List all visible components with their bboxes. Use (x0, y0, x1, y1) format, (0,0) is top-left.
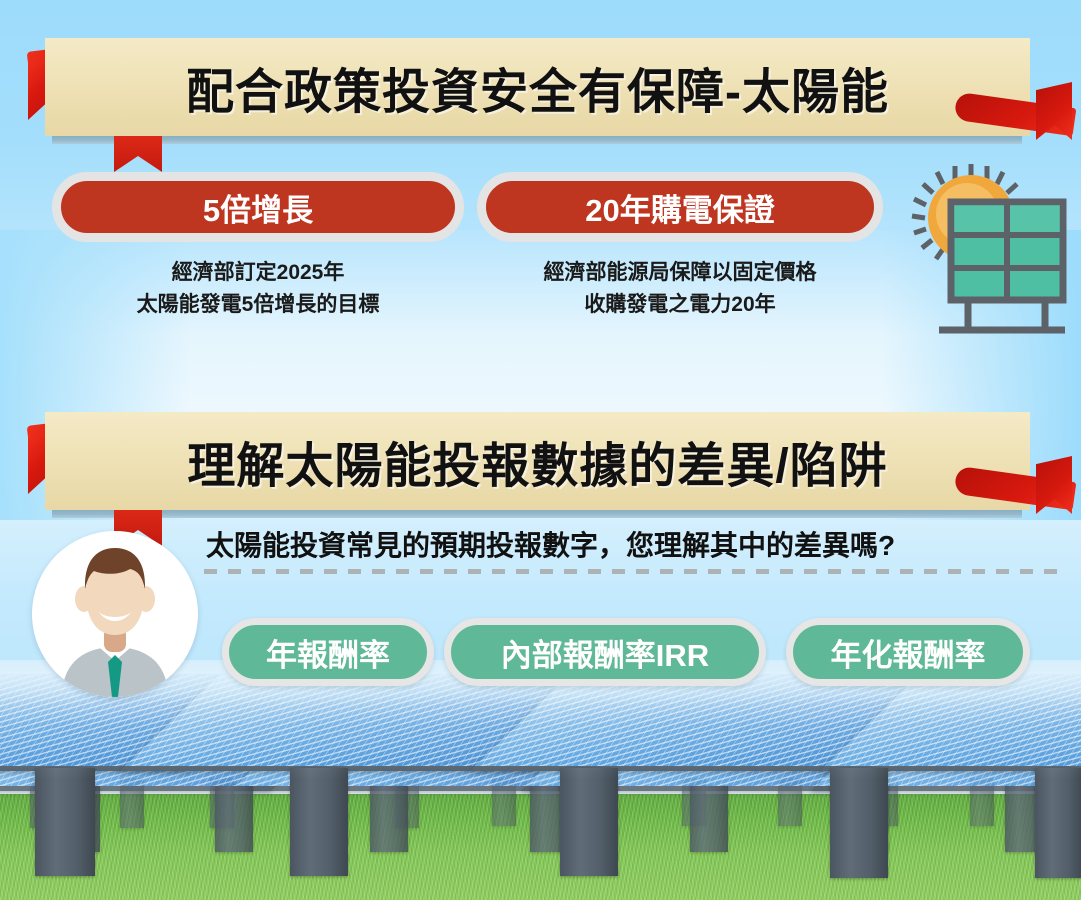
caption-5x-growth-line2: 太陽能發電5倍增長的目標 (52, 290, 464, 320)
term-pill-irr[interactable]: 內部報酬率IRR (444, 618, 766, 686)
highlight-pill-20y-ppa[interactable]: 20年購電保證 (477, 172, 883, 242)
banner-one-plate: 配合政策投資安全有保障-太陽能 (45, 38, 1030, 136)
panel-column (690, 786, 728, 852)
panel-column (35, 768, 95, 876)
caption-20y-ppa-line1: 經濟部能源局保障以固定價格 (477, 258, 883, 288)
solar-icon-svg (893, 158, 1068, 343)
highlight-pill-5x-growth[interactable]: 5倍增長 (52, 172, 464, 242)
subtitle-dashed-underline (204, 569, 1060, 574)
panel-column (830, 768, 888, 878)
caption-20y-ppa-line2: 收購發電之電力20年 (477, 290, 883, 320)
banner-two-title: 理解太陽能投報數據的差異/陷阱 (45, 412, 1030, 510)
term-pill-annual-return[interactable]: 年報酬率 (222, 618, 434, 686)
panel-column (560, 768, 618, 876)
avatar-svg (32, 531, 198, 697)
panel-grid (951, 202, 1063, 300)
banner-one: 配合政策投資安全有保障-太陽能 (0, 0, 1081, 160)
panel-column (290, 768, 348, 876)
panel-column (1035, 768, 1081, 878)
banner-two: 理解太陽能投報數據的差異/陷阱 (0, 378, 1081, 538)
panel-column (215, 786, 253, 852)
solar-panel-sun-icon (893, 158, 1068, 343)
caption-5x-growth-line1: 經濟部訂定2025年 (52, 258, 464, 288)
panel-stand (939, 300, 1065, 330)
solar-farm-photo (0, 660, 1081, 900)
section-two-subtitle: 太陽能投資常見的預期投報數字，您理解其中的差異嗎? (206, 524, 895, 564)
infographic-canvas: 配合政策投資安全有保障-太陽能 5倍增長 經濟部訂定2025年 太陽能發電5倍增… (0, 0, 1081, 900)
term-pill-annualized-return[interactable]: 年化報酬率 (786, 618, 1030, 686)
panel-column (370, 786, 408, 852)
banner-one-title: 配合政策投資安全有保障-太陽能 (45, 38, 1030, 136)
advisor-avatar (32, 531, 198, 697)
banner-two-plate: 理解太陽能投報數據的差異/陷阱 (45, 412, 1030, 510)
